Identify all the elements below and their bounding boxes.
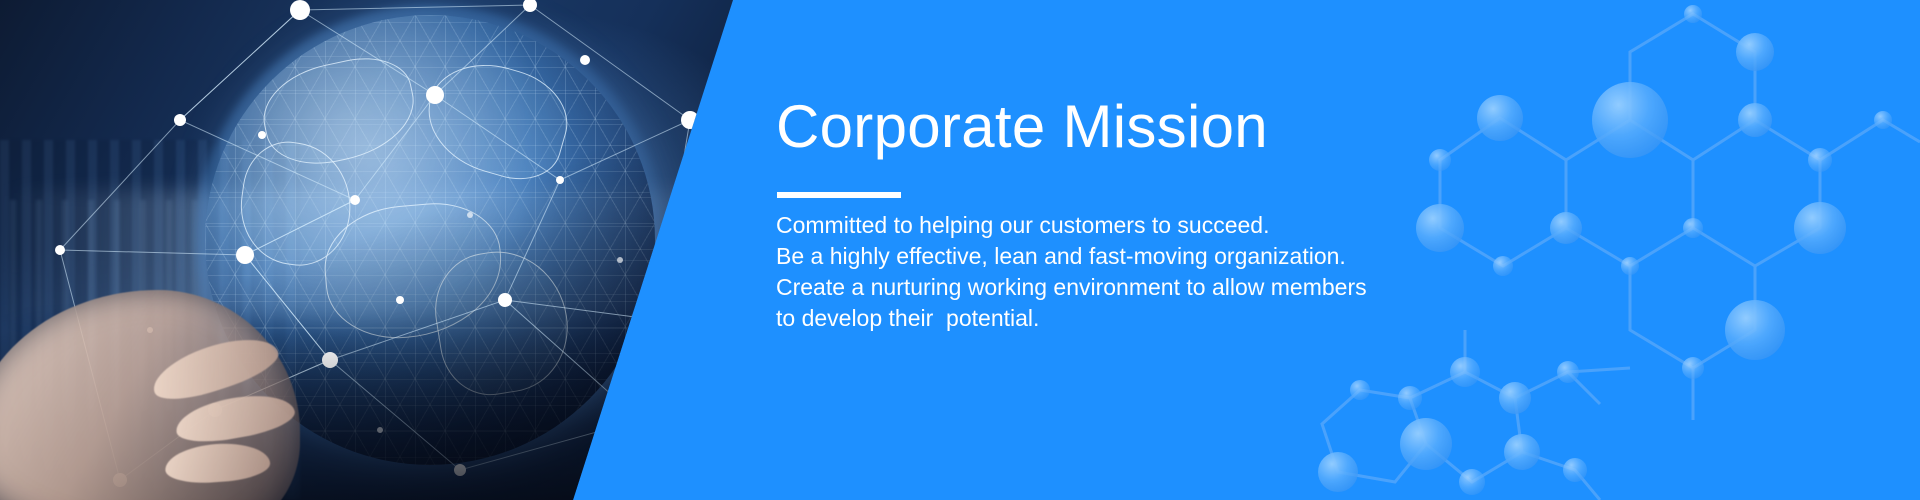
network-node xyxy=(290,0,310,20)
globe-network-photo xyxy=(0,0,840,500)
mission-line: to develop their potential. xyxy=(776,303,1396,334)
corporate-mission-banner: Corporate Mission Committed to helping o… xyxy=(0,0,1920,500)
title-divider xyxy=(777,192,901,198)
page-title: Corporate Mission xyxy=(776,95,1268,158)
mission-line: Create a nurturing working environment t… xyxy=(776,272,1396,303)
mission-line: Be a highly effective, lean and fast-mov… xyxy=(776,241,1396,272)
banner-content: Corporate Mission Committed to helping o… xyxy=(776,0,1676,500)
mission-statement: Committed to helping our customers to su… xyxy=(776,210,1396,334)
mission-line: Committed to helping our customers to su… xyxy=(776,210,1396,241)
